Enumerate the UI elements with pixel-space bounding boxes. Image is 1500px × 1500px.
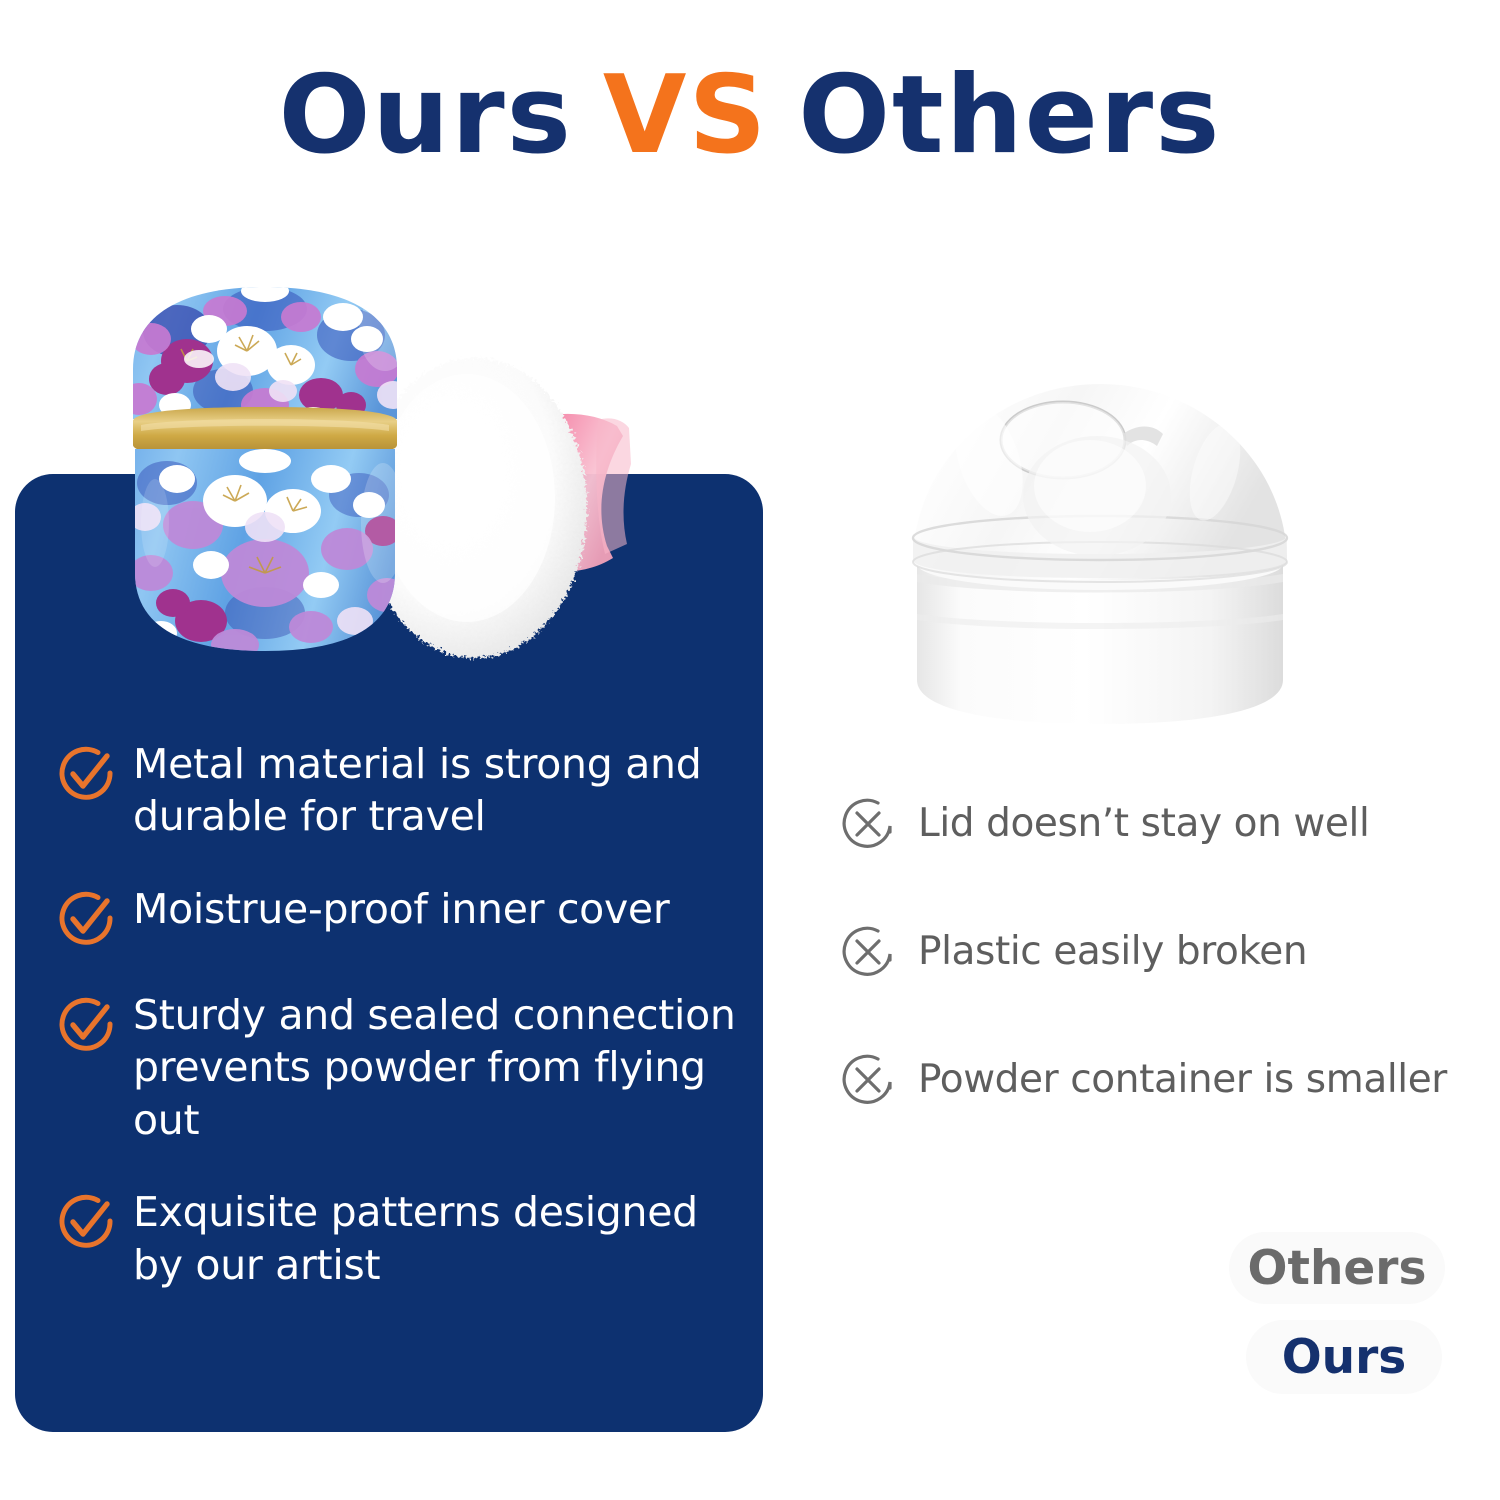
feature-label: Sturdy and sealed connection prevents po… bbox=[133, 989, 755, 1146]
others-product-image bbox=[885, 368, 1315, 738]
title-word-vs: VS bbox=[603, 53, 768, 178]
feature-label: Metal material is strong and durable for… bbox=[133, 738, 755, 843]
check-circle-icon bbox=[55, 742, 117, 804]
others-badge: Others bbox=[1229, 1232, 1445, 1304]
x-circle-icon bbox=[840, 796, 896, 852]
drawback-label: Lid doesn’t stay on well bbox=[918, 801, 1369, 848]
floral-tin-illustration bbox=[115, 273, 415, 673]
drawback-item: Lid doesn’t stay on well bbox=[840, 796, 1480, 852]
feature-item: Sturdy and sealed connection prevents po… bbox=[55, 989, 755, 1146]
drawback-item: Plastic easily broken bbox=[840, 924, 1480, 980]
feature-item: Moistrue-proof inner cover bbox=[55, 883, 755, 949]
feature-item: Metal material is strong and durable for… bbox=[55, 738, 755, 843]
page-title: OursVSOthers bbox=[0, 62, 1500, 170]
check-circle-icon bbox=[55, 1190, 117, 1252]
comparison-infographic: OursVSOthers bbox=[0, 0, 1500, 1500]
feature-label: Exquisite patterns designed by our artis… bbox=[133, 1186, 755, 1291]
title-word-ours: Ours bbox=[279, 53, 573, 178]
feature-label: Moistrue-proof inner cover bbox=[133, 883, 669, 935]
check-circle-icon bbox=[55, 887, 117, 949]
feature-item: Exquisite patterns designed by our artis… bbox=[55, 1186, 755, 1291]
drawback-item: Powder container is smaller bbox=[840, 1052, 1480, 1108]
x-circle-icon bbox=[840, 924, 896, 980]
drawback-label: Plastic easily broken bbox=[918, 929, 1307, 976]
ours-badge: Ours bbox=[1246, 1320, 1442, 1394]
title-word-others: Others bbox=[798, 53, 1221, 178]
others-drawback-list: Lid doesn’t stay on well Plastic easily … bbox=[840, 796, 1480, 1108]
check-circle-icon bbox=[55, 993, 117, 1055]
x-circle-icon bbox=[840, 1052, 896, 1108]
drawback-label: Powder container is smaller bbox=[918, 1057, 1447, 1104]
ours-product-image bbox=[110, 268, 750, 688]
ours-feature-list: Metal material is strong and durable for… bbox=[55, 738, 755, 1291]
